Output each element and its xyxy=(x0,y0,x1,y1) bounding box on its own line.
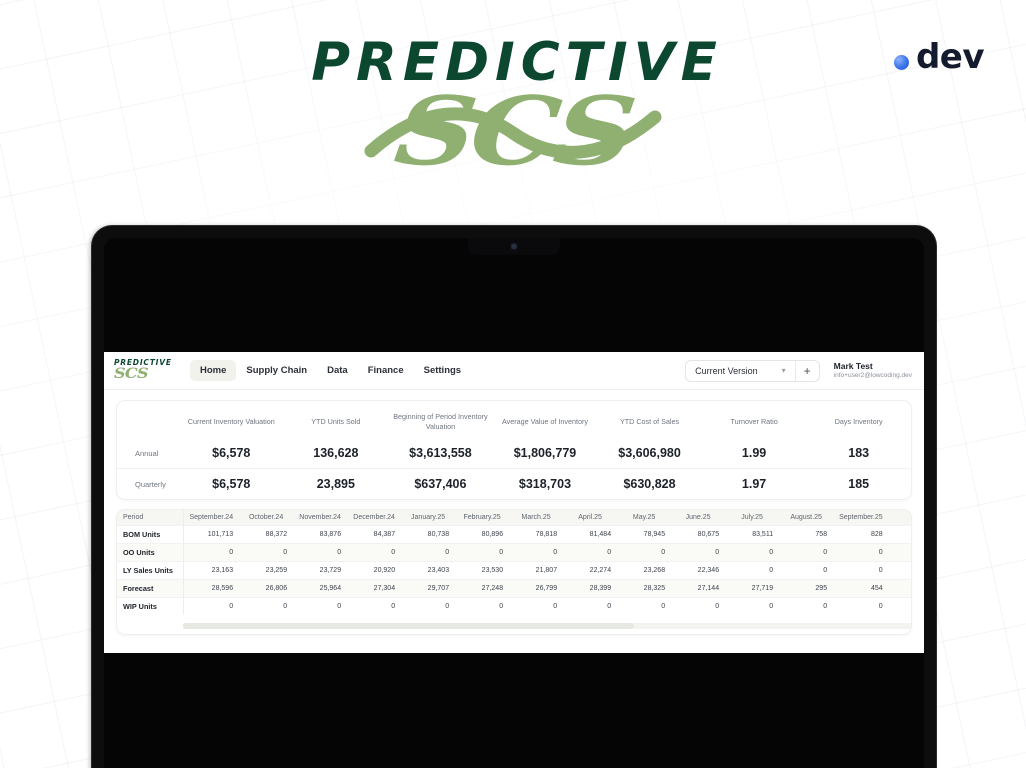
hero-brand-bottom-text: SCS xyxy=(390,85,636,179)
period-data-cell: 0 xyxy=(239,598,293,616)
kpi-header-average-value-of-inventory: Average Value of Inventory xyxy=(493,401,598,438)
period-data-scroll-area[interactable]: PeriodSeptember.24October.24November.24D… xyxy=(117,510,911,618)
period-data-column-header: April.25 xyxy=(563,510,617,526)
period-data-cell: 80,675 xyxy=(671,526,725,544)
period-data-column-header: January.25 xyxy=(401,510,455,526)
kpi-cell: $6,578 xyxy=(179,469,284,500)
period-data-cell: 0 xyxy=(671,544,725,562)
app-logo[interactable]: PREDICTIVE SCS xyxy=(114,359,180,383)
period-data-cell: 0 xyxy=(455,598,509,616)
period-data-cell: 0 xyxy=(183,598,239,616)
horizontal-scrollbar[interactable] xyxy=(183,623,911,629)
period-data-cell: 0 xyxy=(779,598,833,616)
period-data-cell: 0 xyxy=(617,544,671,562)
period-data-cell: 25,964 xyxy=(293,580,347,598)
kpi-cell: 1.97 xyxy=(702,469,807,500)
kpi-cell: $6,578 xyxy=(179,438,284,469)
period-data-column-header: November.24 xyxy=(293,510,347,526)
period-data-cell: 27,144 xyxy=(671,580,725,598)
period-data-cell: 23,259 xyxy=(239,562,293,580)
period-data-cell: 0 xyxy=(779,544,833,562)
period-data-cell xyxy=(889,544,911,562)
period-data-header-rowlabel: Period xyxy=(117,510,183,526)
kpi-header-ytd-cost-of-sales: YTD Cost of Sales xyxy=(597,401,702,438)
period-data-cell xyxy=(889,598,911,616)
nav-item-settings[interactable]: Settings xyxy=(414,360,471,381)
kpi-row-annual: Annual $6,578 136,628 $3,613,558 $1,806,… xyxy=(117,438,911,469)
period-data-row-label: OO Units xyxy=(117,544,183,562)
period-data-cell: 0 xyxy=(833,544,889,562)
app-navbar: PREDICTIVE SCS Home Supply Chain Data Fi… xyxy=(104,352,924,390)
period-data-cell: 28,399 xyxy=(563,580,617,598)
period-data-cell: 29,707 xyxy=(401,580,455,598)
navbar-right-cluster: Current Version ▾ + Mark Test info+user2… xyxy=(685,360,912,382)
nav-item-finance[interactable]: Finance xyxy=(358,360,414,381)
period-data-cell: 0 xyxy=(725,598,779,616)
kpi-cell: $318,703 xyxy=(493,469,598,500)
dev-badge-text: dev xyxy=(916,40,984,74)
period-data-column-header: O xyxy=(889,510,911,526)
period-data-cell: 0 xyxy=(183,544,239,562)
period-data-cell xyxy=(889,580,911,598)
period-data-column-header: August.25 xyxy=(779,510,833,526)
dev-badge: dev xyxy=(894,40,984,74)
period-data-cell: 88,372 xyxy=(239,526,293,544)
kpi-cell: 1.99 xyxy=(702,438,807,469)
period-data-cell: 80,896 xyxy=(455,526,509,544)
period-data-header-row: PeriodSeptember.24October.24November.24D… xyxy=(117,510,911,526)
period-data-cell xyxy=(889,526,911,544)
period-data-column-header: December.24 xyxy=(347,510,401,526)
period-data-row-label: BOM Units xyxy=(117,526,183,544)
period-data-cell: 0 xyxy=(617,598,671,616)
hero-brand-bottom-wrap: SCS xyxy=(0,85,1026,173)
kpi-cell: $637,406 xyxy=(388,469,493,500)
user-name: Mark Test xyxy=(834,361,912,372)
period-data-cell: 27,719 xyxy=(725,580,779,598)
period-data-cell: 22,346 xyxy=(671,562,725,580)
period-data-column-header: October.24 xyxy=(239,510,293,526)
period-data-cell: 0 xyxy=(347,544,401,562)
period-data-cell: 454 xyxy=(833,580,889,598)
period-data-cell: 27,248 xyxy=(455,580,509,598)
period-data-cell: 0 xyxy=(509,598,563,616)
period-data-cell: 28,596 xyxy=(183,580,239,598)
period-data-cell: 0 xyxy=(833,598,889,616)
period-data-cell: 0 xyxy=(779,562,833,580)
horizontal-scrollbar-thumb[interactable] xyxy=(183,623,634,629)
table-row: BOM Units101,71388,37283,87684,38780,738… xyxy=(117,526,911,544)
period-data-cell: 101,713 xyxy=(183,526,239,544)
period-data-cell: 23,403 xyxy=(401,562,455,580)
kpi-cell: 183 xyxy=(806,438,911,469)
period-data-cell: 0 xyxy=(833,562,889,580)
period-data-cell: 0 xyxy=(455,544,509,562)
period-data-cell: 81,484 xyxy=(563,526,617,544)
period-data-column-header: September.25 xyxy=(833,510,889,526)
user-email: info+user2@lowcoding.dev xyxy=(834,372,912,380)
period-data-row-label: WIP Units xyxy=(117,598,183,616)
kpi-table: Current Inventory Valuation YTD Units So… xyxy=(117,401,911,499)
nav-item-supply-chain[interactable]: Supply Chain xyxy=(236,360,317,381)
period-data-cell: 0 xyxy=(293,544,347,562)
period-data-cell: 23,163 xyxy=(183,562,239,580)
kpi-cell: $3,606,980 xyxy=(597,438,702,469)
dev-dot-icon xyxy=(894,55,909,70)
kpi-cell: 136,628 xyxy=(284,438,389,469)
kpi-cell: $1,806,779 xyxy=(493,438,598,469)
kpi-header-current-inventory-valuation: Current Inventory Valuation xyxy=(179,401,284,438)
period-data-cell: 0 xyxy=(725,562,779,580)
period-data-column-header: May.25 xyxy=(617,510,671,526)
kpi-row-quarterly: Quarterly $6,578 23,895 $637,406 $318,70… xyxy=(117,469,911,500)
period-data-cell: 83,876 xyxy=(293,526,347,544)
period-data-cell: 23,530 xyxy=(455,562,509,580)
period-data-cell: 21,807 xyxy=(509,562,563,580)
app-logo-top-text: PREDICTIVE xyxy=(114,359,180,367)
period-data-cell: 22,274 xyxy=(563,562,617,580)
period-data-row-label: Forecast xyxy=(117,580,183,598)
period-data-column-header: March.25 xyxy=(509,510,563,526)
period-data-cell: 295 xyxy=(779,580,833,598)
period-data-cell: 26,806 xyxy=(239,580,293,598)
kpi-cell: $630,828 xyxy=(597,469,702,500)
period-data-cell: 0 xyxy=(293,598,347,616)
kpi-header-rowlabel xyxy=(117,401,179,438)
period-data-cell: 0 xyxy=(401,598,455,616)
plus-icon[interactable]: + xyxy=(795,361,819,381)
period-data-cell: 27,304 xyxy=(347,580,401,598)
period-data-cell xyxy=(889,562,911,580)
period-data-column-header: September.24 xyxy=(183,510,239,526)
period-data-cell: 23,729 xyxy=(293,562,347,580)
period-data-cell: 83,511 xyxy=(725,526,779,544)
kpi-header-days-inventory: Days Inventory xyxy=(806,401,911,438)
nav-item-home[interactable]: Home xyxy=(190,360,236,381)
kpi-header-row: Current Inventory Valuation YTD Units So… xyxy=(117,401,911,438)
period-data-column-header: June.25 xyxy=(671,510,725,526)
app-logo-bottom-text: SCS xyxy=(114,367,148,381)
kpi-cell: 23,895 xyxy=(284,469,389,500)
period-data-cell: 28,325 xyxy=(617,580,671,598)
app-screen: PREDICTIVE SCS Home Supply Chain Data Fi… xyxy=(104,352,924,653)
period-data-cell: 80,738 xyxy=(401,526,455,544)
period-data-cell: 0 xyxy=(563,544,617,562)
kpi-summary-card: Current Inventory Valuation YTD Units So… xyxy=(116,400,912,500)
table-row: OO Units0000000000000 xyxy=(117,544,911,562)
version-selector[interactable]: Current Version ▾ + xyxy=(685,360,820,382)
kpi-header-beginning-of-period-inventory-valuation: Beginning of Period Inventory Valuation xyxy=(388,401,493,438)
nav-item-data[interactable]: Data xyxy=(317,360,358,381)
period-data-row-label: LY Sales Units xyxy=(117,562,183,580)
period-data-cell: 23,268 xyxy=(617,562,671,580)
period-data-body: BOM Units101,71388,37283,87684,38780,738… xyxy=(117,526,911,616)
period-data-cell: 758 xyxy=(779,526,833,544)
period-data-cell: 84,387 xyxy=(347,526,401,544)
hero-brand-logo: PREDICTIVE SCS xyxy=(0,36,1026,173)
period-data-table: PeriodSeptember.24October.24November.24D… xyxy=(117,510,911,615)
period-data-column-header: July.25 xyxy=(725,510,779,526)
version-selector-value: Current Version xyxy=(686,366,766,376)
period-data-cell: 0 xyxy=(563,598,617,616)
period-data-cell: 0 xyxy=(347,598,401,616)
period-data-cell: 0 xyxy=(509,544,563,562)
kpi-cell: 185 xyxy=(806,469,911,500)
period-data-cell: 78,818 xyxy=(509,526,563,544)
period-data-cell: 26,799 xyxy=(509,580,563,598)
kpi-header-ytd-units-sold: YTD Units Sold xyxy=(284,401,389,438)
period-data-cell: 0 xyxy=(671,598,725,616)
period-data-cell: 20,920 xyxy=(347,562,401,580)
period-data-cell: 0 xyxy=(239,544,293,562)
period-data-cell: 0 xyxy=(725,544,779,562)
period-data-column-header: February.25 xyxy=(455,510,509,526)
laptop-camera-icon xyxy=(512,244,517,249)
kpi-row-label-quarterly: Quarterly xyxy=(117,469,179,500)
table-row: WIP Units0000000000000 xyxy=(117,598,911,616)
page-root: PREDICTIVE SCS dev PREDICTIVE SCS H xyxy=(0,0,1026,768)
chevron-down-icon[interactable]: ▾ xyxy=(766,367,795,375)
kpi-row-label-annual: Annual xyxy=(117,438,179,469)
laptop-mockup: PREDICTIVE SCS Home Supply Chain Data Fi… xyxy=(92,226,936,768)
period-data-card: PeriodSeptember.24October.24November.24D… xyxy=(116,509,912,635)
period-data-cell: 0 xyxy=(401,544,455,562)
kpi-header-turnover-ratio: Turnover Ratio xyxy=(702,401,807,438)
table-row: Forecast28,59626,80625,96427,30429,70727… xyxy=(117,580,911,598)
period-data-cell: 78,945 xyxy=(617,526,671,544)
period-data-cell: 828 xyxy=(833,526,889,544)
user-account-block[interactable]: Mark Test info+user2@lowcoding.dev xyxy=(834,361,912,380)
kpi-cell: $3,613,558 xyxy=(388,438,493,469)
table-row: LY Sales Units23,16323,25923,72920,92023… xyxy=(117,562,911,580)
